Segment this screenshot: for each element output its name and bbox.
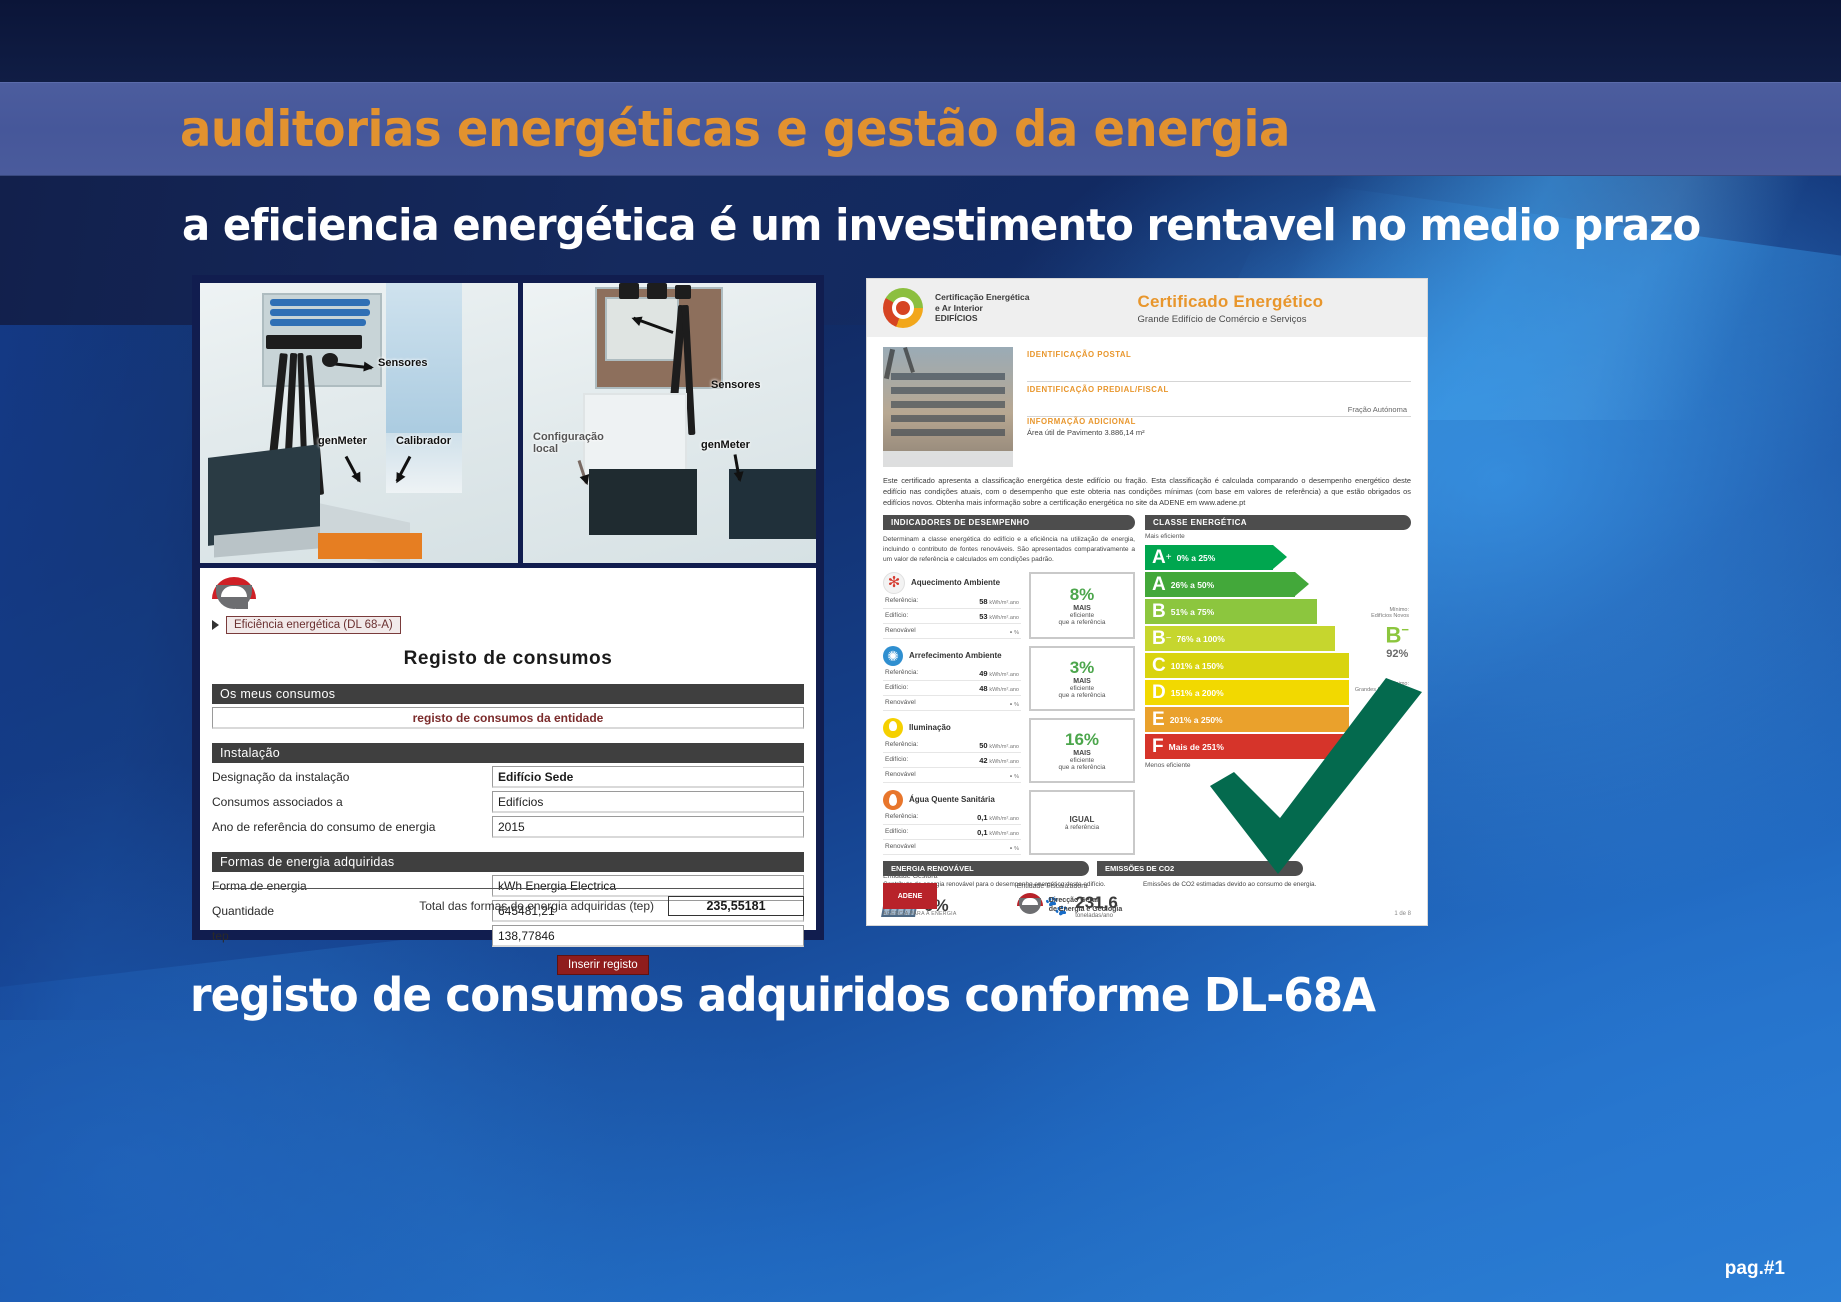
entity-fisc-name-l1: Direcção Geral (1049, 896, 1123, 905)
bottom-title: registo de consumos adquiridos conforme … (190, 968, 1375, 1022)
certificate-columns: INDICADORES DE DESEMPENHO Determinam a c… (867, 508, 1427, 855)
band-range: 26% a 50% (1171, 580, 1214, 590)
field-value-tep[interactable]: 138,77846 (492, 925, 804, 947)
scale-band-b: B 51% a 75% (1145, 599, 1317, 624)
energy-class-scale: A + 0% a 25% A 26% a 50% B 51% (1145, 545, 1411, 759)
entity-fiscalizadora: Entidade Fiscalizadora Direcção Geral de… (1017, 883, 1123, 917)
cooling-icon (883, 646, 903, 666)
total-value: 235,55181 (668, 896, 804, 916)
id-postal-line (1027, 359, 1411, 382)
certificate-identification: IDENTIFICAÇÃO POSTAL IDENTIFICAÇÃO PREDI… (867, 337, 1427, 467)
scale-band-e: E 201% a 250% (1145, 707, 1349, 732)
heating-icon (883, 572, 905, 594)
ref-unit: kWh/m².ano (989, 672, 1019, 678)
building-photo (883, 347, 1013, 467)
indicator-building-row: Edifício: 0,1 kWh/m².ano (883, 825, 1021, 840)
entity-gestora-label: Entidade Gestora (883, 873, 957, 880)
band-range: 51% a 75% (1171, 607, 1214, 617)
bld-label: Edifício: (885, 828, 908, 837)
title-band: auditorias energéticas e gestão da energ… (0, 82, 1841, 176)
identification-block: IDENTIFICAÇÃO POSTAL IDENTIFICAÇÃO PREDI… (1027, 347, 1411, 467)
ref-value: 49 (979, 669, 987, 678)
label-identificacao-predial: IDENTIFICAÇÃO PREDIAL/FISCAL (1027, 385, 1411, 394)
left-panel: Sensores genMeter Calibrador Sensor (192, 275, 824, 940)
ref-value: 58 (979, 597, 987, 606)
band-range: Mais de 251% (1169, 742, 1224, 752)
water-icon (883, 790, 903, 810)
result-line3: que a referência (1059, 692, 1106, 699)
indicator-name: Iluminação (909, 723, 951, 733)
result-line2: eficiente (1070, 757, 1094, 764)
form-row: Designação da instalação Edifício Sede (212, 766, 804, 788)
photo-label-calibrador: Calibrador (396, 435, 451, 447)
energy-class-column: CLASSE ENERGÉTICA Mais eficiente A + 0% … (1145, 515, 1411, 855)
band-range: 101% a 150% (1171, 661, 1224, 671)
fracao-autonoma-note: Fração Autónoma (1027, 405, 1411, 414)
photo-label-config-local: Configuração local (533, 431, 623, 455)
band-letter: C (1145, 656, 1166, 675)
photo-label-genmeter-2: genMeter (701, 439, 750, 451)
slide-canvas: auditorias energéticas e gestão da energ… (0, 0, 1841, 1302)
bld-unit: kWh/m².ano (989, 615, 1019, 621)
scale-band-a-plus: A + 0% a 25% (1145, 545, 1273, 570)
ref-value: 50 (979, 741, 987, 750)
band-range: 0% a 25% (1177, 553, 1216, 563)
consumption-form-document: Eficiência energética (DL 68-A) Registo … (200, 568, 816, 930)
result-line1: MAIS (1073, 605, 1091, 612)
ref-unit: kWh/m².ano (989, 816, 1019, 822)
form-row: tep 138,77846 (212, 925, 804, 947)
ren-unit: % (1014, 702, 1019, 708)
entity-registration-line: registo de consumos da entidade (212, 707, 804, 729)
result-class-badge: B− 92% (1386, 623, 1409, 659)
side-note-new-buildings: Mínimo: Edifícios Novos (1371, 607, 1409, 619)
performance-header: INDICADORES DE DESEMPENHO (883, 515, 1135, 530)
more-efficient-label: Mais eficiente (1145, 533, 1411, 540)
indicator-reference-row: Referência: 58 kWh/m².ano (883, 594, 1021, 609)
side-note-text: Grandes Intervenções (1355, 687, 1409, 693)
band-range: 201% a 250% (1170, 715, 1223, 725)
bld-label: Edifício: (885, 756, 908, 765)
certification-logo-text: Certificação Energética e Ar Interior ED… (935, 292, 1029, 323)
field-label-ano-referencia: Ano de referência do consumo de energia (212, 820, 492, 834)
band-sup: − (1166, 633, 1172, 644)
scale-band-b-minus: B − 76% a 100% (1145, 626, 1335, 651)
ren-label: Renovável (885, 699, 916, 708)
top-bar (0, 0, 1841, 82)
ren-unit: % (1014, 774, 1019, 780)
indicator-result-box: IGUAL à referência (1029, 790, 1135, 855)
energy-class-header: CLASSE ENERGÉTICA (1145, 515, 1411, 530)
band-range: 76% a 100% (1177, 634, 1225, 644)
bld-label: Edifício: (885, 612, 908, 621)
logo-line-2: e Ar Interior (935, 303, 1029, 313)
certificate-footer: Entidade Gestora ADENE AGÊNCIA PARA A EN… (883, 873, 1411, 917)
ref-label: Referência: (885, 813, 918, 822)
photo-installation-left: Sensores genMeter Calibrador (200, 283, 518, 563)
bld-unit: kWh/m².ano (989, 831, 1019, 837)
indicator-building-row: Edifício: 53 kWh/m².ano (883, 609, 1021, 624)
ref-unit: kWh/m².ano (989, 744, 1019, 750)
indicator-building-row: Edifício: 42 kWh/m².ano (883, 753, 1021, 768)
field-value-designacao[interactable]: Edifício Sede (492, 766, 804, 788)
badge-sup: − (1401, 622, 1409, 637)
indicator-result-box: 8% MAIS eficiente que a referência (1029, 572, 1135, 639)
form-row: Consumos associados a Edifícios (212, 791, 804, 813)
bld-value: 42 (979, 756, 987, 765)
less-efficient-label: Menos eficiente (1145, 762, 1411, 769)
bld-unit: kWh/m².ano (989, 759, 1019, 765)
ren-value: - (1010, 627, 1013, 636)
indicator-result-box: 3% MAIS eficiente que a referência (1029, 646, 1135, 711)
ref-label: Referência: (885, 597, 918, 606)
field-label-designacao: Designação da instalação (212, 770, 492, 784)
chevron-right-icon (212, 620, 219, 630)
field-label-consumos-assoc: Consumos associados a (212, 795, 492, 809)
indicator-renewable-row: Renovável - % (883, 840, 1021, 855)
section-installation: Instalação (212, 743, 804, 763)
result-line2: eficiente (1070, 612, 1094, 619)
logo-line-1: Certificação Energética (935, 292, 1029, 302)
band-letter: B (1145, 629, 1166, 648)
indicator-name: Arrefecimento Ambiente (909, 651, 1002, 661)
section-energy-forms: Formas de energia adquiridas (212, 852, 804, 872)
ren-unit: % (1014, 846, 1019, 852)
scale-band-a: A 26% a 50% (1145, 572, 1295, 597)
bld-unit: kWh/m².ano (989, 687, 1019, 693)
band-letter: E (1145, 710, 1165, 729)
indicator-name: Água Quente Sanitária (909, 795, 995, 805)
result-line2: à referência (1065, 824, 1099, 831)
adene-badge: ADENE (883, 883, 937, 909)
badge-percent: 92% (1386, 648, 1409, 660)
performance-column: INDICADORES DE DESEMPENHO Determinam a c… (883, 515, 1135, 855)
bld-value: 53 (979, 612, 987, 621)
logo-line-3: EDIFÍCIOS (935, 313, 1029, 323)
adene-subtitle: AGÊNCIA PARA A ENERGIA (883, 911, 957, 917)
ref-label: Referência: (885, 669, 918, 678)
certificate-paragraph: Este certificado apresenta a classificaç… (867, 467, 1427, 508)
ren-value: - (1010, 771, 1013, 780)
entity-fisc-label: Entidade Fiscalizadora (1017, 883, 1123, 890)
result-line1: MAIS (1073, 678, 1091, 685)
scale-band-f: F Mais de 251% (1145, 734, 1349, 759)
result-percent: 8% (1070, 586, 1095, 603)
ren-label: Renovável (885, 627, 916, 636)
indicator-renewable-row: Renovável - % (883, 768, 1021, 783)
certificate-title: Certificado Energético (1137, 292, 1323, 312)
performance-intro: Determinam a classe energética do edifíc… (883, 535, 1135, 565)
total-row: Total das formas de energia adquiridas (… (212, 888, 804, 916)
photo-label-genmeter: genMeter (318, 435, 367, 447)
band-letter: B (1145, 602, 1166, 621)
page-title: auditorias energéticas e gestão da energ… (180, 100, 1290, 158)
entity-gestora: Entidade Gestora ADENE AGÊNCIA PARA A EN… (883, 873, 957, 917)
indicator-reference-row: Referência: 50 kWh/m².ano (883, 738, 1021, 753)
result-line2: eficiente (1070, 685, 1094, 692)
certificate-subtitle: Grande Edifício de Comércio e Serviços (1137, 314, 1323, 325)
band-letter: F (1145, 737, 1164, 756)
ren-label: Renovável (885, 843, 916, 852)
ref-value: 0,1 (977, 813, 987, 822)
ren-value: - (1010, 699, 1013, 708)
result-percent: IGUAL (1070, 815, 1095, 824)
indicator-renewable-row: Renovável - % (883, 696, 1021, 711)
lighting-icon (883, 718, 903, 738)
indicator-cooling: Arrefecimento Ambiente Referência: 49 kW… (883, 646, 1135, 711)
entity-fisc-name-l2: de Energia e Geologia (1049, 905, 1123, 914)
certification-logo-icon (883, 288, 923, 328)
indicator-result-box: 16% MAIS eficiente que a referência (1029, 718, 1135, 783)
bld-value: 48 (979, 684, 987, 693)
result-line3: que a referência (1059, 619, 1106, 626)
side-note-text: Edifícios Novos (1371, 613, 1409, 619)
band-range: 151% a 200% (1171, 688, 1224, 698)
scale-band-c: C 101% a 150% (1145, 653, 1349, 678)
document-heading: Registo de consumos (212, 648, 804, 670)
indicator-renewable-row: Renovável - % (883, 624, 1021, 639)
bld-value: 0,1 (977, 828, 987, 837)
certificate-page-of: 1 de 8 (1394, 911, 1411, 917)
field-label-tep: tep (212, 929, 492, 943)
band-sup: + (1166, 552, 1172, 563)
indicator-hot-water: Água Quente Sanitária Referência: 0,1 kW… (883, 790, 1135, 855)
ren-unit: % (1014, 630, 1019, 636)
label-identificacao-postal: IDENTIFICAÇÃO POSTAL (1027, 350, 1411, 359)
page-number: pag.#1 (1725, 1258, 1785, 1280)
label-informacao-adicional: INFORMAÇÃO ADICIONAL (1027, 417, 1411, 426)
form-row: Ano de referência do consumo de energia … (212, 816, 804, 838)
result-percent: 3% (1070, 659, 1095, 676)
band-letter: D (1145, 683, 1166, 702)
result-percent: 16% (1065, 731, 1099, 748)
photo-row: Sensores genMeter Calibrador Sensor (200, 283, 816, 563)
indicator-lighting: Iluminação Referência: 50 kWh/m².ano Edi… (883, 718, 1135, 783)
field-value-ano-referencia[interactable]: 2015 (492, 816, 804, 838)
section-my-consumption: Os meus consumos (212, 684, 804, 704)
indicator-name: Aquecimento Ambiente (911, 578, 1000, 588)
breadcrumb-label[interactable]: Eficiência energética (DL 68-A) (226, 616, 401, 634)
certificate-titles: Certificado Energético Grande Edifício d… (1137, 292, 1323, 325)
adene-logo-icon (212, 577, 256, 611)
subtitle: a eficiencia energética é um investiment… (182, 200, 1700, 251)
indicator-heating: Aquecimento Ambiente Referência: 58 kWh/… (883, 572, 1135, 639)
ref-label: Referência: (885, 741, 918, 750)
photo-label-sensores: Sensores (378, 357, 428, 369)
indicator-reference-row: Referência: 0,1 kWh/m².ano (883, 810, 1021, 825)
energy-certificate-document: Certificação Energética e Ar Interior ED… (866, 278, 1428, 926)
dgeg-logo-icon (1017, 893, 1043, 917)
result-line1: MAIS (1073, 750, 1091, 757)
value-informacao-adicional: Área útil de Pavimento 3.886,14 m² (1027, 426, 1411, 437)
indicator-building-row: Edifício: 48 kWh/m².ano (883, 681, 1021, 696)
ren-value: - (1010, 843, 1013, 852)
band-letter: A (1145, 575, 1166, 594)
total-label: Total das formas de energia adquiridas (… (419, 899, 654, 913)
band-letter: A (1145, 548, 1166, 567)
side-note-major-works: Mínimo: Grandes Intervenções (1355, 681, 1409, 693)
breadcrumb[interactable]: Eficiência energética (DL 68-A) (212, 616, 804, 634)
photo-installation-right: Sensores Configuração local genMeter (523, 283, 816, 563)
badge-letter: B (1386, 623, 1402, 648)
scale-band-d: D 151% a 200% (1145, 680, 1349, 705)
indicator-reference-row: Referência: 49 kWh/m².ano (883, 666, 1021, 681)
ren-label: Renovável (885, 771, 916, 780)
photo-label-sensores-2: Sensores (711, 379, 761, 391)
result-line3: que a referência (1059, 764, 1106, 771)
bld-label: Edifício: (885, 684, 908, 693)
ref-unit: kWh/m².ano (989, 600, 1019, 606)
certificate-header: Certificação Energética e Ar Interior ED… (867, 279, 1427, 337)
field-value-consumos-assoc[interactable]: Edifícios (492, 791, 804, 813)
